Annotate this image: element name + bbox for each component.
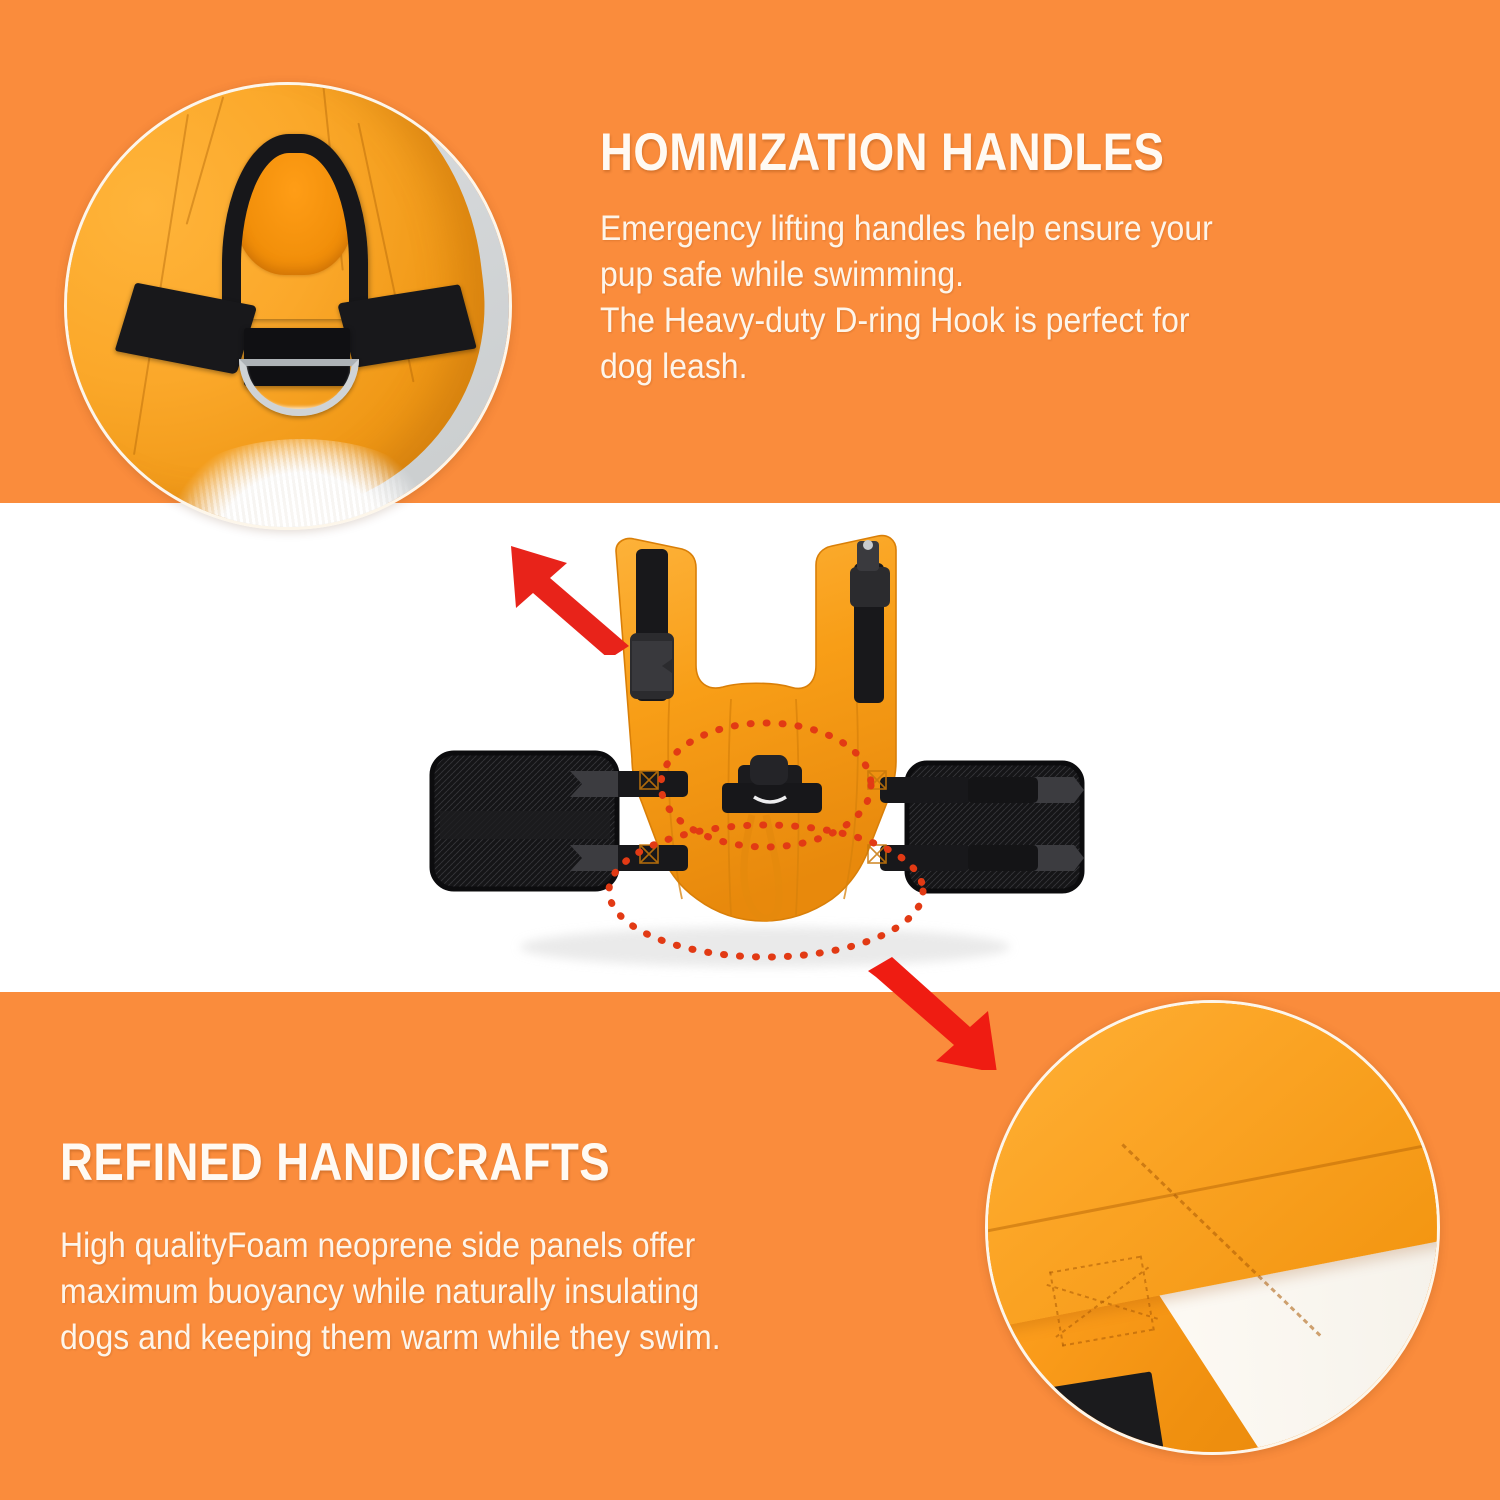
handle-detail-photo: [64, 82, 512, 530]
top-section-heading: HOMMIZATION HANDLES: [600, 125, 1164, 181]
buckle-left-lower: [570, 845, 688, 871]
handle-photo-inner: [67, 85, 509, 527]
top-body-line-4: dog leash.: [600, 343, 1213, 389]
neck-strap-left: [630, 549, 674, 701]
bottom-section-heading: REFINED HANDICRAFTS: [60, 1135, 610, 1191]
bottom-body-line-3: dogs and keeping them warm while they sw…: [60, 1314, 721, 1360]
top-body-line-1: Emergency lifting handles help ensure yo…: [600, 205, 1213, 251]
buckle-right-upper: [880, 777, 1084, 803]
stitch-segment: [1055, 1267, 1150, 1339]
bottom-body-line-1: High qualityFoam neoprene side panels of…: [60, 1222, 721, 1268]
top-body-line-3: The Heavy-duty D-ring Hook is perfect fo…: [600, 297, 1213, 343]
bottom-body-line-2: maximum buoyancy while naturally insulat…: [60, 1268, 721, 1314]
buckle-left-upper: [570, 771, 688, 797]
bottom-section-body: High qualityFoam neoprene side panels of…: [60, 1222, 721, 1360]
stitching-detail-photo: [985, 1000, 1440, 1455]
arrow-to-handle-photo: [505, 540, 635, 655]
arrow-to-stitch-photo: [862, 955, 997, 1070]
top-body-line-2: pup safe while swimming.: [600, 251, 1213, 297]
stitch-photo-inner: [988, 1003, 1437, 1452]
infographic-page: HOMMIZATION HANDLES Emergency lifting ha…: [0, 0, 1500, 1500]
top-section-body: Emergency lifting handles help ensure yo…: [600, 205, 1213, 390]
